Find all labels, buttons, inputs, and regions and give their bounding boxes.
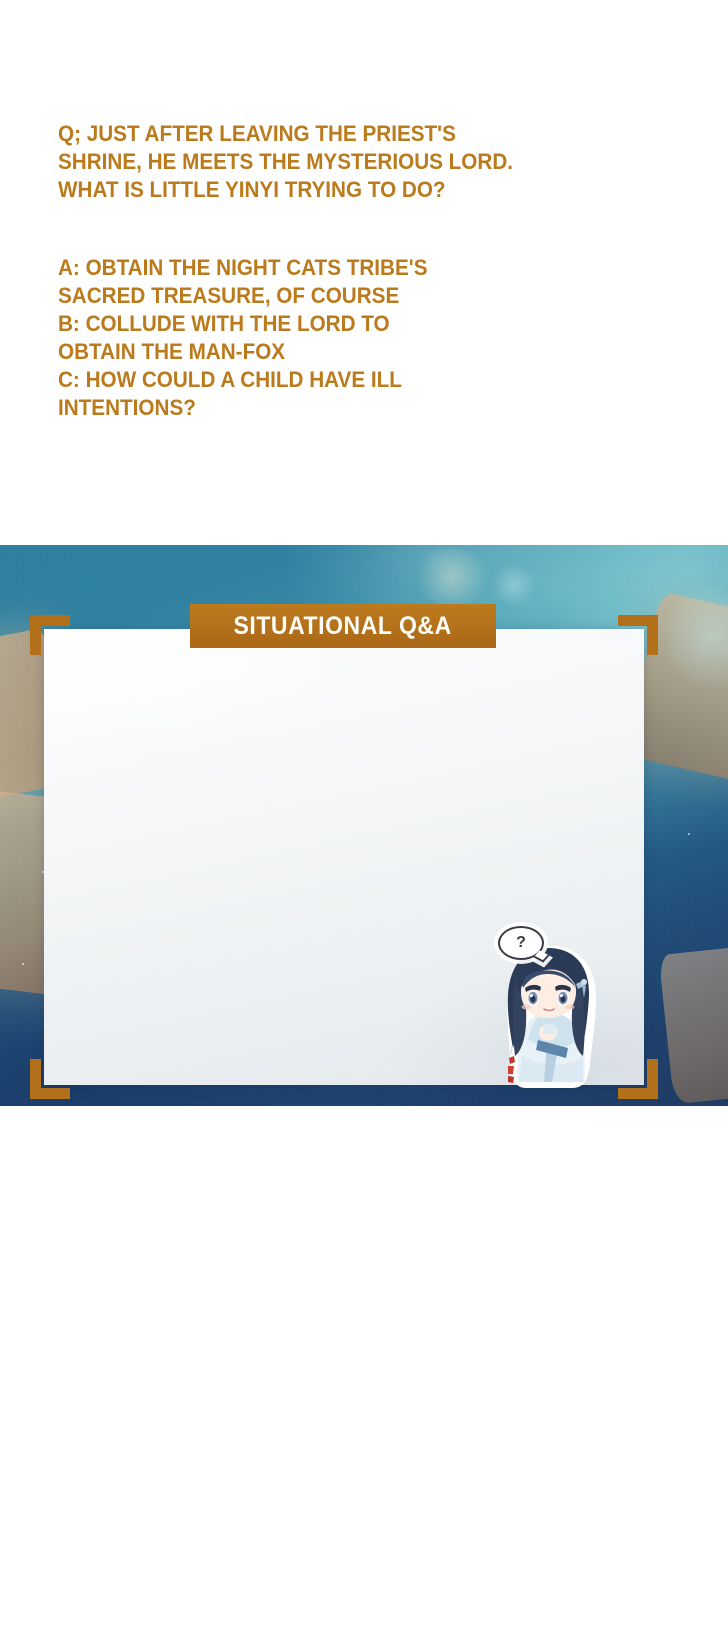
question-block: Q; JUST AFTER LEAVING THE PRIEST'S SHRIN… (58, 120, 528, 204)
answers-block: A: OBTAIN THE NIGHT CATS TRIBE'S SACRED … (58, 254, 528, 422)
answer-option-b-line: OBTAIN THE MAN-FOX (58, 338, 500, 366)
sparkle-icon (22, 963, 24, 965)
qa-title-banner: SITUATIONAL Q&A (190, 604, 496, 648)
lantern-decoration-icon (658, 944, 728, 1105)
character-sticker: ? (492, 916, 604, 1091)
answer-option-a-line: A: OBTAIN THE NIGHT CATS TRIBE'S (58, 254, 500, 282)
answer-option-b-line: B: COLLUDE WITH THE LORD TO (58, 310, 500, 338)
light-glow-icon (492, 563, 536, 607)
question-line: Q; JUST AFTER LEAVING THE PRIEST'S (58, 120, 500, 148)
question-line: WHAT IS LITTLE YINYI TRYING TO DO? (58, 176, 500, 204)
light-glow-icon (666, 577, 728, 697)
qa-title-text: SITUATIONAL Q&A (234, 612, 452, 641)
page-bottom-whitespace (0, 1106, 728, 1631)
sparkle-icon (688, 833, 690, 835)
answer-option-a-line: SACRED TREASURE, OF COURSE (58, 282, 500, 310)
light-glow-icon (408, 549, 496, 605)
question-answer-spacer (58, 204, 528, 254)
question-line: SHRINE, HE MEETS THE MYSTERIOUS LORD. (58, 148, 500, 176)
thought-bubble-text: ? (516, 935, 526, 951)
answer-option-c-line: C: HOW COULD A CHILD HAVE ILL (58, 366, 500, 394)
answer-option-c-line: INTENTIONS? (58, 394, 500, 422)
qa-text-block: Q; JUST AFTER LEAVING THE PRIEST'S SHRIN… (58, 120, 528, 422)
